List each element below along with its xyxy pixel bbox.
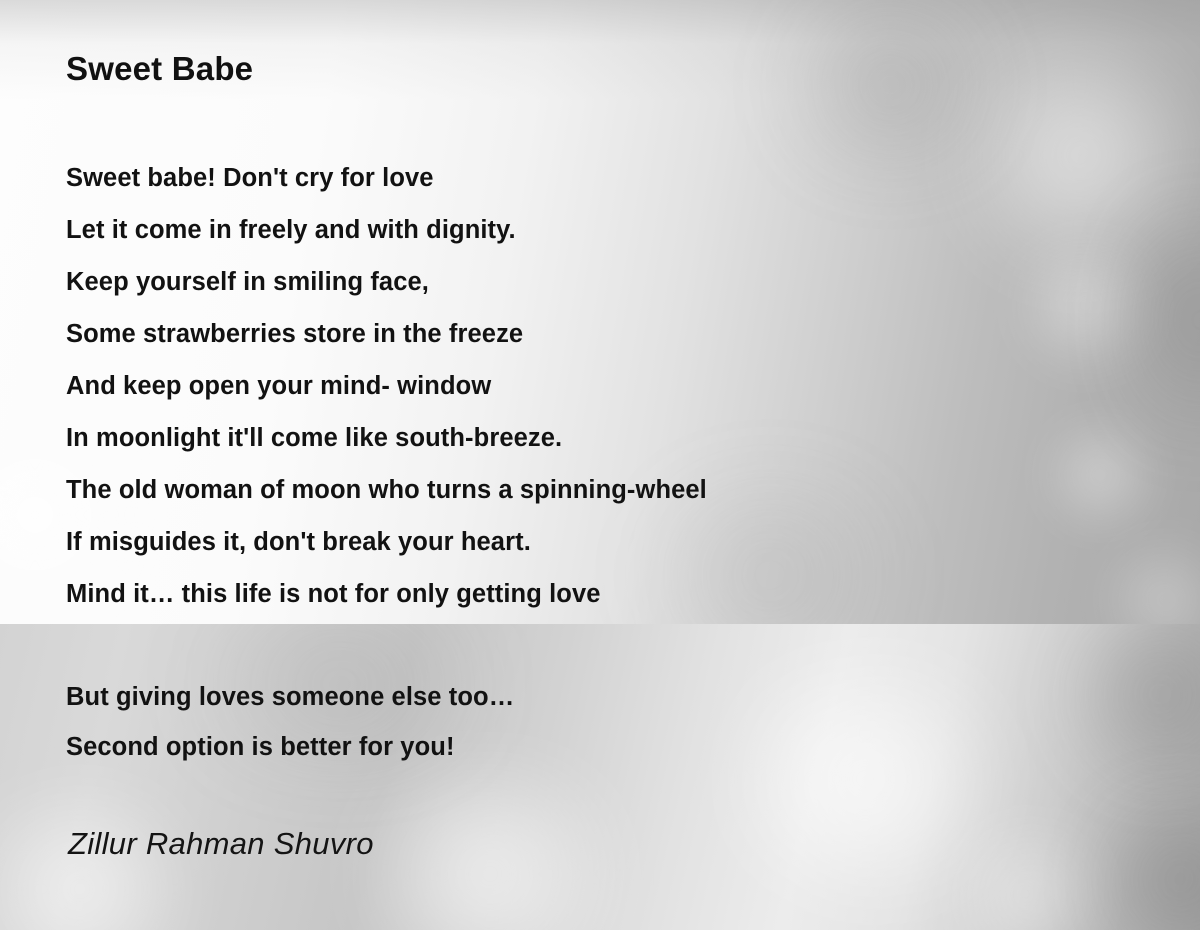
poem-line: If misguides it, don't break your heart. (66, 516, 1126, 568)
poem-line: Let it come in freely and with dignity. (66, 204, 1126, 256)
poem-stanza-one: Sweet babe! Don't cry for love Let it co… (66, 152, 1126, 620)
poem-line: Second option is better for you! (66, 722, 1126, 772)
poem-line: And keep open your mind- window (66, 360, 1126, 412)
poem-image: Sweet Babe Sweet babe! Don't cry for lov… (0, 0, 1200, 930)
poem-line: Some strawberries store in the freeze (66, 308, 1126, 360)
poem-title: Sweet Babe (66, 50, 253, 88)
poem-line: Keep yourself in smiling face, (66, 256, 1126, 308)
poem-line: Mind it… this life is not for only getti… (66, 568, 1126, 620)
poem-author-signature: Zillur Rahman Shuvro (68, 826, 374, 862)
poem-text-layer: Sweet Babe Sweet babe! Don't cry for lov… (0, 0, 1200, 930)
poem-line: Sweet babe! Don't cry for love (66, 152, 1126, 204)
poem-stanza-two: But giving loves someone else too… Secon… (66, 672, 1126, 772)
poem-line: The old woman of moon who turns a spinni… (66, 464, 1126, 516)
poem-line: In moonlight it'll come like south-breez… (66, 412, 1126, 464)
poem-line: But giving loves someone else too… (66, 672, 1126, 722)
